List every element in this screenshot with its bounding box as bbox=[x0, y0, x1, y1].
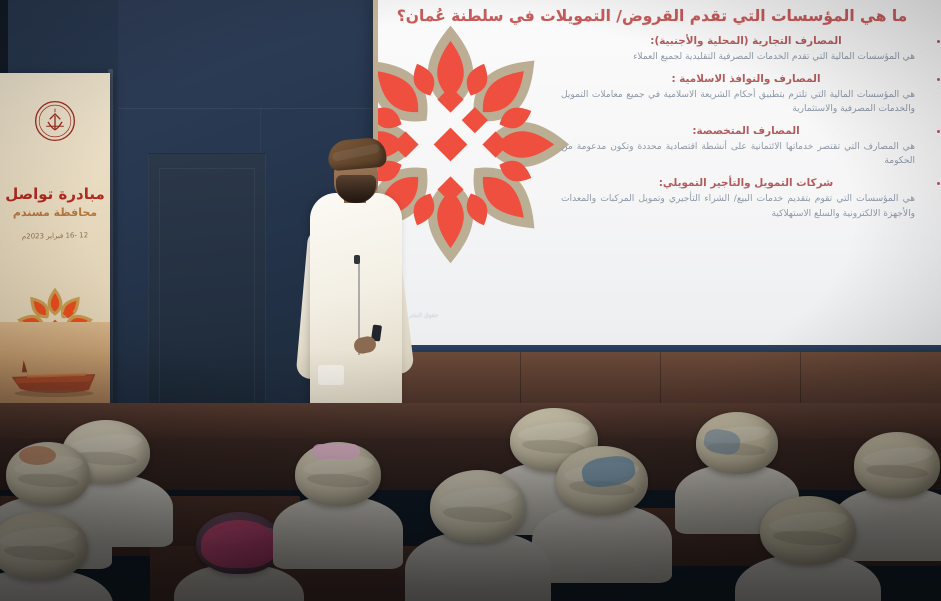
banner-date: 12 -16 فبراير 2023م bbox=[0, 231, 110, 241]
wall-seam-horizontal bbox=[118, 108, 392, 109]
slide-block-heading-text: شركات التمويل والتأجير التمويلي: bbox=[659, 177, 834, 189]
door-panel bbox=[159, 168, 255, 430]
rollup-banner: مبادرة تواصل محافظة مسندم 12 -16 فبراير … bbox=[0, 73, 110, 440]
slide-block-heading: المصارف المتخصصة: bbox=[547, 125, 931, 138]
audience-member bbox=[295, 442, 381, 546]
audience-sunglasses-icon bbox=[312, 444, 360, 459]
audience-turban bbox=[0, 512, 88, 580]
presenter-turban bbox=[327, 137, 387, 172]
slide-block-body: هي المؤسسات المالية التي تقدم الخدمات ال… bbox=[547, 48, 931, 64]
banner-subtitle: محافظة مسندم bbox=[0, 206, 110, 219]
audience-member bbox=[854, 432, 940, 538]
audience-member bbox=[556, 446, 648, 558]
cbo-emblem-icon bbox=[33, 99, 77, 143]
audience-member bbox=[760, 496, 856, 601]
slide-block: المصارف التجارية (المحلية والأجنبية): هي… bbox=[547, 35, 931, 64]
banner-title: مبادرة تواصل bbox=[0, 185, 110, 203]
audience-member bbox=[430, 470, 526, 588]
audience-turban-accent bbox=[19, 446, 56, 465]
audience-group bbox=[0, 404, 941, 601]
bullet-dot-icon bbox=[937, 182, 940, 185]
slide-block-heading: شركات التمويل والتأجير التمويلي: bbox=[547, 177, 931, 190]
slide-block: المصارف المتخصصة: هي المصارف التي تقتصر … bbox=[547, 125, 931, 168]
slide-title: ما هي المؤسسات التي تقدم القروض/ التمويل… bbox=[373, 2, 937, 25]
slide-block-body: هي المؤسسات المالية التي تلتزم بتطبيق أح… bbox=[547, 86, 931, 116]
slide-block-heading-text: المصارف التجارية (المحلية والأجنبية): bbox=[650, 35, 841, 47]
audience-member bbox=[0, 512, 88, 601]
slide-block-heading-text: المصارف المتخصصة: bbox=[692, 125, 799, 137]
audience-turban bbox=[430, 470, 526, 543]
bullet-dot-icon bbox=[937, 40, 940, 43]
audience-turban bbox=[854, 432, 940, 498]
audience-member bbox=[196, 512, 282, 601]
bullet-dot-icon bbox=[937, 78, 940, 81]
slide-block: شركات التمويل والتأجير التمويلي: هي المؤ… bbox=[547, 177, 931, 220]
slide-block-heading: المصارف والنوافذ الاسلامية : bbox=[547, 73, 931, 86]
audience-shoulders bbox=[273, 496, 404, 569]
stage-door bbox=[148, 153, 266, 430]
projection-screen: ما هي المؤسسات التي تقدم القروض/ التمويل… bbox=[373, 0, 941, 346]
scene-photo: ما هي المؤسسات التي تقدم القروض/ التمويل… bbox=[0, 0, 941, 601]
lapel-microphone-icon bbox=[354, 255, 360, 264]
slide-block-body: هي المؤسسات التي تقوم بتقديم خدمات البيع… bbox=[547, 190, 931, 220]
audience-turban bbox=[760, 496, 856, 565]
dhow-boat-icon bbox=[8, 352, 100, 398]
slide-content: ما هي المؤسسات التي تقدم القروض/ التمويل… bbox=[373, 0, 941, 346]
slide-bullets: المصارف التجارية (المحلية والأجنبية): هي… bbox=[547, 35, 937, 221]
audience-turban-pattern bbox=[201, 520, 277, 568]
bullet-dot-icon bbox=[937, 130, 940, 133]
slide-block-heading: المصارف التجارية (المحلية والأجنبية): bbox=[547, 35, 931, 48]
slide-block-heading-text: المصارف والنوافذ الاسلامية : bbox=[671, 73, 820, 85]
slide-block: المصارف والنوافذ الاسلامية : هي المؤسسات… bbox=[547, 73, 931, 116]
audience-shoulders bbox=[532, 504, 672, 582]
slide-block-body: هي المصارف التي تقتصر خدماتها الائتمانية… bbox=[547, 138, 931, 168]
presenter-pocket bbox=[318, 365, 344, 385]
presenter bbox=[296, 137, 414, 447]
